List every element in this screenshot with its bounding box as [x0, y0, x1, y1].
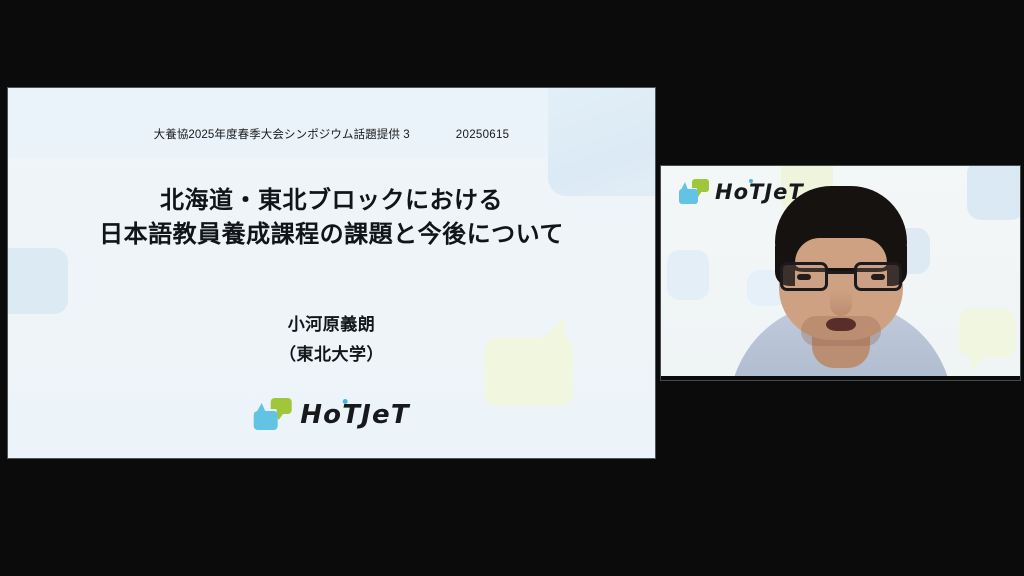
- speaker-eye-left: [797, 274, 811, 280]
- video-logo-lockup: HoTJeT: [679, 179, 804, 206]
- slide-logo-wordmark: HoTJeT: [300, 402, 410, 428]
- slide-date-label: 20250615: [456, 129, 510, 141]
- video-logo-wordmark: HoTJeT: [715, 182, 804, 203]
- slide-title-line-2: 日本語教員養成課程の課題と今後について: [8, 218, 655, 252]
- slide-canvas: 大養協2025年度春季大会シンポジウム話題提供 3 20250615 北海道・東…: [8, 88, 655, 458]
- meeting-screen: 大養協2025年度春季大会シンポジウム話題提供 3 20250615 北海道・東…: [0, 0, 1024, 576]
- slide-title: 北海道・東北ブロックにおける 日本語教員養成課程の課題と今後について: [8, 184, 655, 252]
- speaker-mouth: [826, 318, 856, 331]
- slide-title-line-1: 北海道・東北ブロックにおける: [8, 184, 655, 218]
- logo-j-dot-icon: [342, 399, 347, 404]
- slide-presenter-block: 小河原義朗 （東北大学）: [8, 310, 655, 370]
- speaker-eye-right: [871, 274, 885, 280]
- presenter-name: 小河原義朗: [8, 310, 655, 340]
- slide-logo-lockup: HoTJeT: [253, 398, 410, 432]
- slide-logo-wordmark-text: HoTJeT: [300, 400, 410, 430]
- logo-j-dot-icon: [749, 179, 753, 183]
- speech-bubbles-icon: [679, 179, 709, 206]
- slide-conference-label: 大養協2025年度春季大会シンポジウム話題提供 3: [154, 126, 410, 142]
- speaker-video-tile[interactable]: HoTJeT: [661, 166, 1020, 380]
- video-logo-wordmark-text: HoTJeT: [715, 180, 804, 204]
- shared-slide-panel[interactable]: 大養協2025年度春季大会シンポジウム話題提供 3 20250615 北海道・東…: [8, 88, 655, 458]
- speech-bubbles-icon: [253, 398, 291, 432]
- presenter-affiliation: （東北大学）: [8, 340, 655, 370]
- speaker-nose: [830, 290, 852, 316]
- slide-header: 大養協2025年度春季大会シンポジウム話題提供 3 20250615: [8, 126, 655, 142]
- slide-decor-bottom-band: [8, 88, 655, 158]
- slide-decor-blue-bubble-left: [8, 248, 68, 314]
- video-tile-bottom-edge: [661, 376, 1020, 380]
